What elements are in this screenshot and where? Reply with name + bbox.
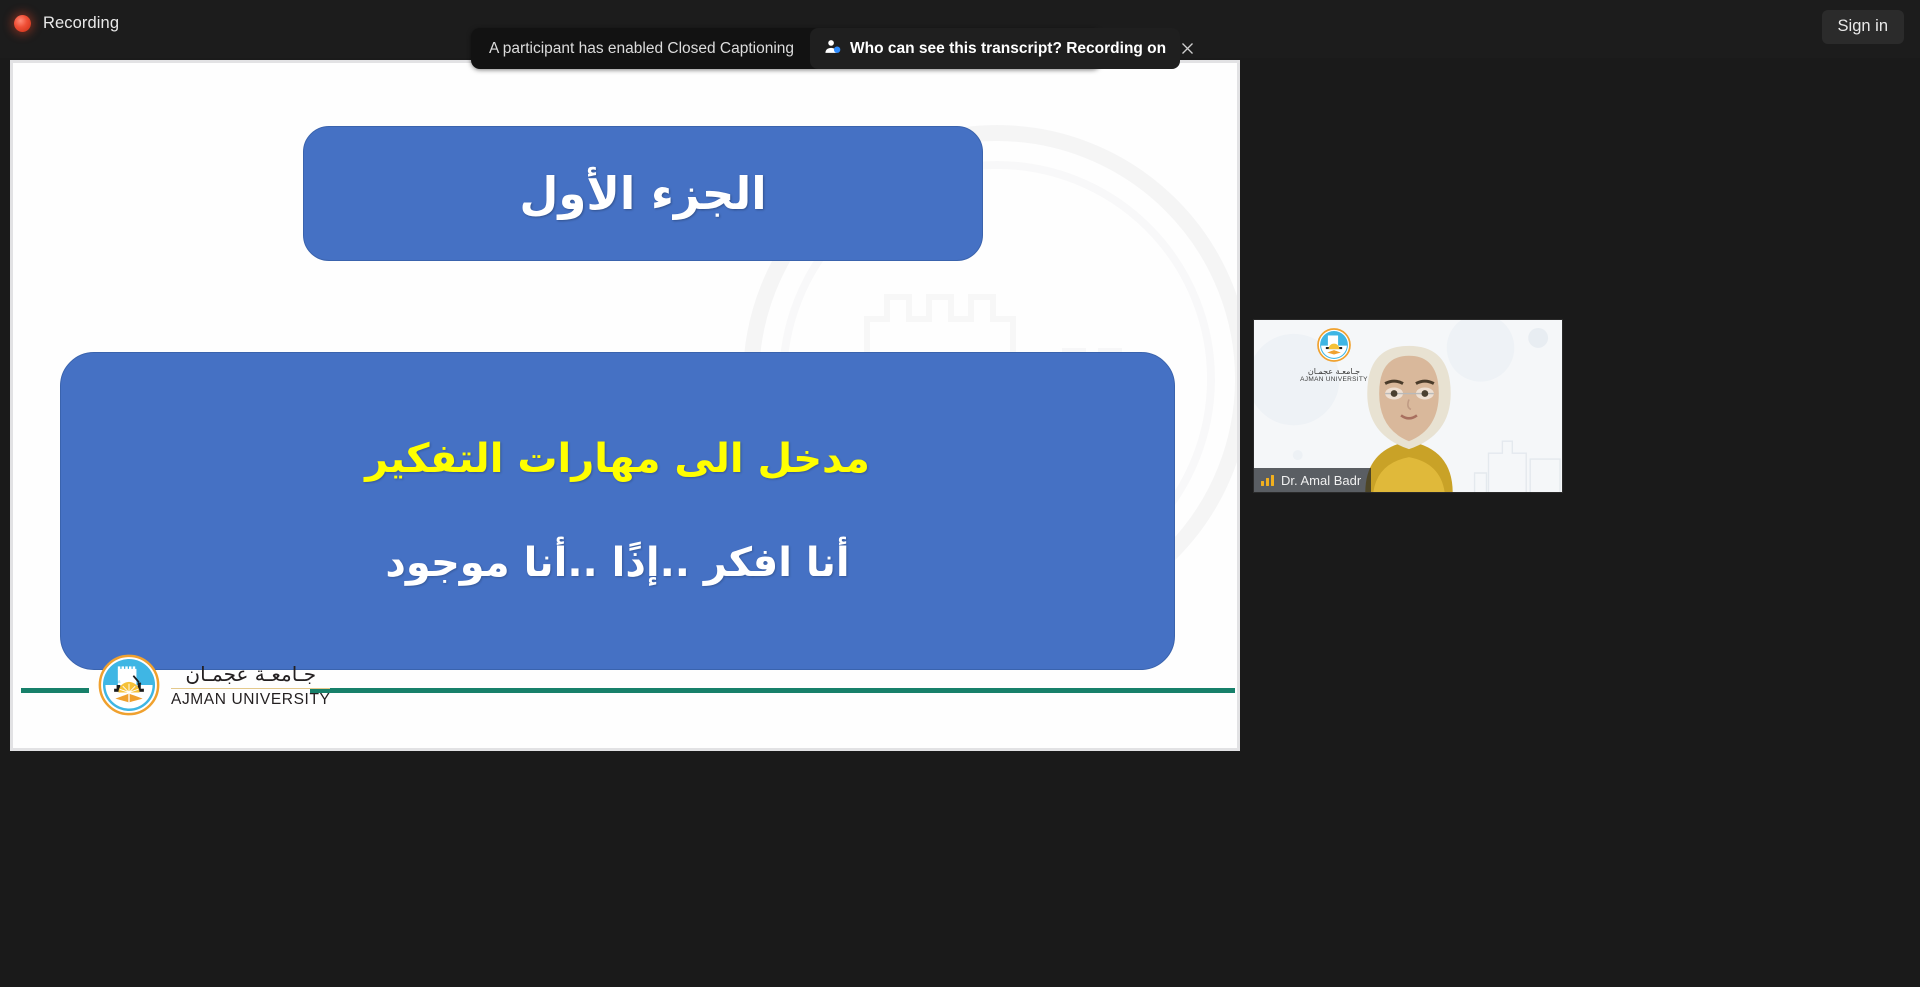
caption-notification: A participant has enabled Closed Caption… xyxy=(471,28,1101,69)
slide-body-box: مدخل الى مهارات التفكير أنا افكر ..إذًا … xyxy=(60,352,1175,670)
logo-divider xyxy=(171,688,330,689)
person-add-icon xyxy=(824,38,841,60)
slide-footer: 1988 1988 جـامعـة عجمـان AJMAN UNIVERSIT… xyxy=(13,654,1237,726)
svg-text:1988: 1988 xyxy=(138,680,148,684)
participant-name-badge: Dr. Amal Badr xyxy=(1254,468,1371,492)
logo-english-text: AJMAN UNIVERSITY xyxy=(171,691,330,709)
presentation-slide: الجزء الأول مدخل الى مهارات التفكير أنا … xyxy=(13,63,1237,748)
footer-rule-right xyxy=(310,688,1235,693)
ajman-university-crest-icon: 1988 1988 xyxy=(98,654,160,716)
ajman-university-crest-icon xyxy=(1317,328,1351,362)
svg-text:1988: 1988 xyxy=(111,680,121,684)
shared-screen-frame[interactable]: الجزء الأول مدخل الى مهارات التفكير أنا … xyxy=(10,60,1240,751)
slide-title-box: الجزء الأول xyxy=(303,126,983,261)
caption-notification-message: A participant has enabled Closed Caption… xyxy=(471,40,810,58)
transcript-visibility-label: Who can see this transcript? Recording o… xyxy=(850,40,1166,58)
close-icon[interactable] xyxy=(1180,28,1195,69)
participant-video-tile[interactable]: جـامعـة عجمـان AJMAN UNIVERSITY Dr. Amal… xyxy=(1253,319,1563,493)
sign-in-button[interactable]: Sign in xyxy=(1822,10,1904,44)
video-logo-english-text: AJMAN UNIVERSITY xyxy=(1294,376,1374,383)
transcript-visibility-button[interactable]: Who can see this transcript? Recording o… xyxy=(810,28,1180,69)
recording-dot-icon xyxy=(14,15,31,32)
footer-rule-left xyxy=(21,688,89,693)
participant-name-label: Dr. Amal Badr xyxy=(1281,473,1361,488)
logo-arabic-text: جـامعـة عجمـان xyxy=(185,662,316,686)
slide-body-heading: مدخل الى مهارات التفكير xyxy=(365,436,870,482)
meeting-window: Recording Sign in A participant has enab… xyxy=(0,0,1920,987)
signal-bars-icon xyxy=(1261,474,1274,486)
sign-in-label: Sign in xyxy=(1838,17,1888,35)
slide-body-subheading: أنا افكر ..إذًا ..أنا موجود xyxy=(385,540,849,586)
slide-title-text: الجزء الأول xyxy=(519,167,766,220)
recording-indicator: Recording xyxy=(14,14,119,33)
video-background-logo: جـامعـة عجمـان AJMAN UNIVERSITY xyxy=(1294,328,1374,383)
ajman-university-logo: 1988 1988 جـامعـة عجمـان AJMAN UNIVERSIT… xyxy=(98,654,330,716)
recording-label: Recording xyxy=(43,14,119,33)
ajman-university-wordmark: جـامعـة عجمـان AJMAN UNIVERSITY xyxy=(171,662,330,709)
video-logo-arabic-text: جـامعـة عجمـان xyxy=(1294,367,1374,376)
